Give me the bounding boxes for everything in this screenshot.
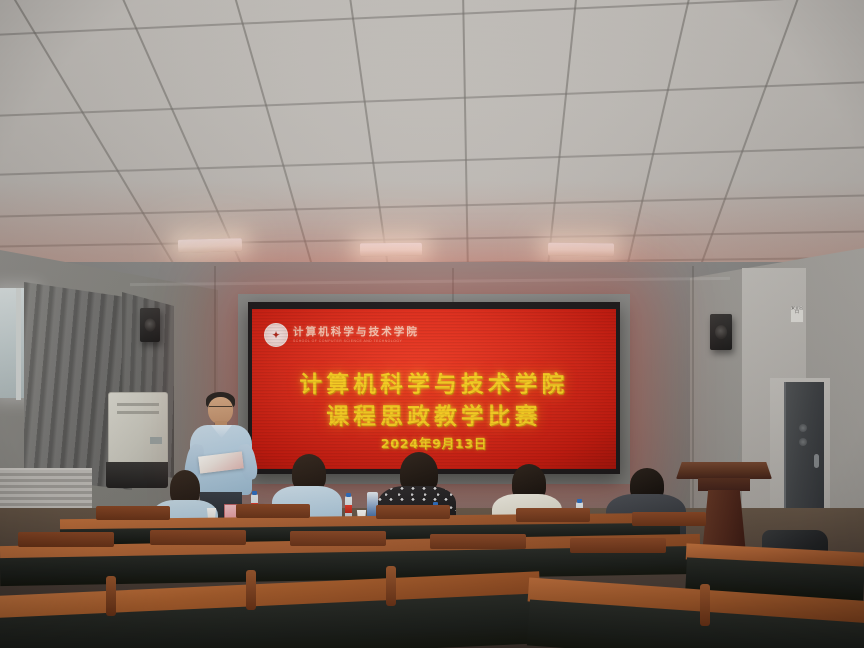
chair-back xyxy=(570,538,666,553)
ceiling xyxy=(0,0,864,300)
door-ornament-icon xyxy=(799,438,807,446)
lectern-neck xyxy=(698,478,750,491)
window-frame xyxy=(16,288,21,400)
door-handle[interactable] xyxy=(814,454,819,468)
lectern-top xyxy=(676,462,772,479)
ceiling-light-center xyxy=(360,243,422,257)
chair-back xyxy=(236,504,310,518)
chair-back xyxy=(376,505,450,519)
door-ornament-icon xyxy=(799,424,807,432)
ac-vent xyxy=(117,403,159,406)
chair-back xyxy=(96,506,170,520)
ac-control-panel[interactable] xyxy=(150,437,162,444)
chair-back xyxy=(632,512,706,526)
wall-speaker-left xyxy=(140,308,160,342)
ceiling-tile-grid xyxy=(0,0,864,300)
ceiling-light-right xyxy=(548,243,614,257)
school-logo-name-cn: 计算机科学与技术学院 xyxy=(293,327,419,338)
bottle-cap xyxy=(252,491,257,495)
school-logo-block: ✦ 计算机科学与技术学院 SCHOOL OF COMPUTER SCIENCE … xyxy=(264,323,419,347)
speaker-cone-icon xyxy=(715,325,727,339)
chair-back xyxy=(290,531,386,546)
banner-title-line1: 计算机科学与技术学院 xyxy=(252,367,616,399)
exit-sign: 安全出口 xyxy=(790,305,804,323)
chair-divider xyxy=(106,576,116,616)
chair-back xyxy=(516,508,590,522)
chair-back xyxy=(18,532,114,547)
chair-divider xyxy=(386,566,396,606)
ceiling-light-left xyxy=(178,238,242,253)
wall-speaker-right xyxy=(710,314,732,350)
speaker-cone-icon xyxy=(145,319,156,332)
bottle-cap xyxy=(577,499,582,503)
air-conditioner xyxy=(108,392,168,466)
banner-title-line2: 课程思政教学比赛 xyxy=(252,399,616,431)
chair-divider xyxy=(700,584,710,626)
school-logo-name-en: SCHOOL OF COMPUTER SCIENCE AND TECHNOLOG… xyxy=(293,340,419,343)
school-emblem-icon: ✦ xyxy=(264,323,288,347)
led-screen: ✦ 计算机科学与技术学院 SCHOOL OF COMPUTER SCIENCE … xyxy=(252,309,616,469)
bottle-label xyxy=(345,505,352,513)
chair-back xyxy=(150,530,246,545)
conference-room-photo: 安全出口 ✦ 计算机科学与技术学院 SCHOOL OF COMPUTER SCI… xyxy=(0,0,864,648)
banner-date: 2024年9月13日 xyxy=(252,433,616,452)
ac-vent xyxy=(117,411,159,414)
chair-back xyxy=(430,534,526,549)
bottle-cap xyxy=(346,493,351,497)
chair-divider xyxy=(246,570,256,610)
water-bottle xyxy=(345,496,352,518)
glasses-icon xyxy=(209,406,232,412)
